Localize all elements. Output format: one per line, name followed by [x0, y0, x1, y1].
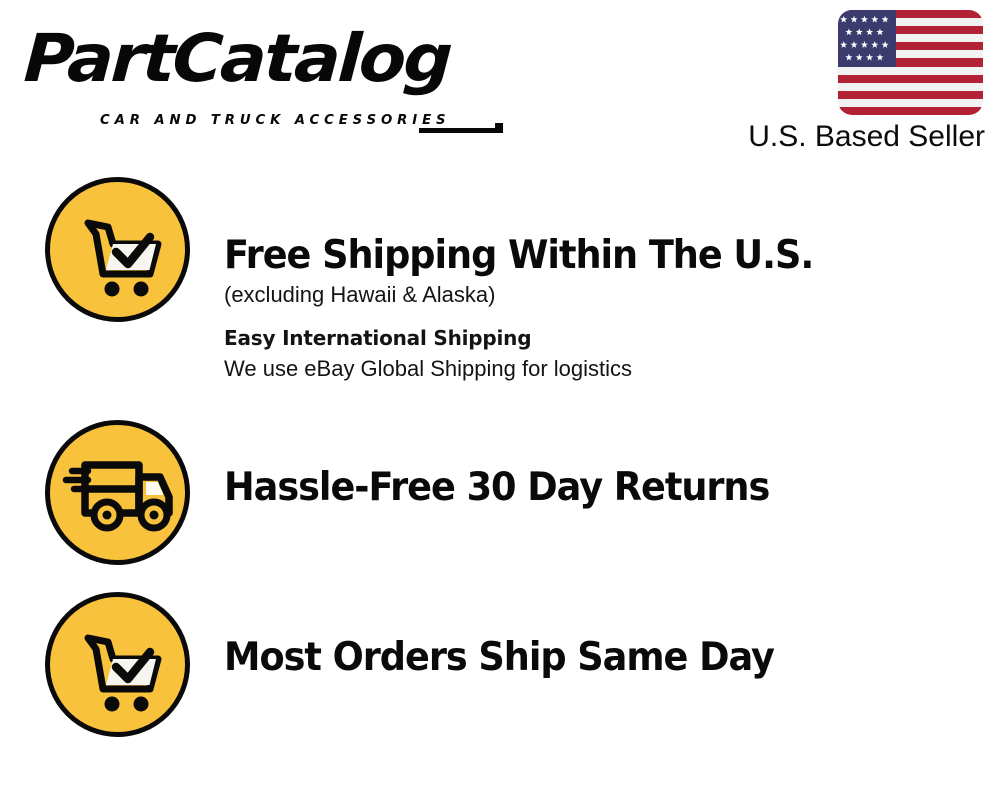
flag-star: [840, 16, 847, 23]
flag-stripe: [838, 99, 983, 107]
flag-star: [861, 41, 868, 48]
flag-star: [861, 16, 868, 23]
flag-star: [882, 16, 889, 23]
feature-row: Hassle-Free 30 Day Returns: [0, 345, 1000, 520]
flag-stripe: [838, 75, 983, 83]
us-flag-icon: [838, 10, 983, 115]
feature-list: Free Shipping Within The U.S. (excluding…: [0, 175, 1000, 800]
flag-star: [876, 54, 883, 61]
flag-star: [856, 54, 863, 61]
flag-star: [851, 41, 858, 48]
flag-star: [840, 41, 847, 48]
flag-star: [866, 28, 873, 35]
brand-tagline: CAR AND TRUCK ACCESSORIES: [100, 112, 450, 128]
flag-stripe: [838, 91, 983, 99]
feature-row: Most Orders Ship Same Day: [0, 515, 1000, 690]
us-based-seller-label: U.S. Based Seller: [640, 118, 985, 156]
feature-text-block: Most Orders Ship Same Day: [224, 635, 990, 681]
brand-wordmark: PartCatalog: [22, 26, 452, 92]
flag-star: [866, 54, 873, 61]
flag-stripe: [838, 107, 983, 115]
flag-stars: [838, 10, 896, 67]
flag-star: [851, 16, 858, 23]
brand-logo[interactable]: PartCatalog CAR AND TRUCK ACCESSORIES: [22, 26, 492, 116]
feature-title: Hassle-Free 30 Day Returns: [224, 465, 944, 511]
shopping-cart-check-icon: [45, 592, 190, 737]
feature-subtitle: (excluding Hawaii & Alaska): [224, 279, 990, 310]
feature-row: Free Shipping Within The U.S. (excluding…: [0, 175, 1000, 350]
flag-stripe: [838, 67, 983, 75]
flag-star: [882, 41, 889, 48]
flag-star: [871, 41, 878, 48]
flag-star: [876, 28, 883, 35]
page-header: PartCatalog CAR AND TRUCK ACCESSORIES U.…: [0, 0, 1000, 175]
shopping-cart-check-icon: [45, 177, 190, 322]
flag-star: [845, 28, 852, 35]
feature-text-block: Hassle-Free 30 Day Returns: [224, 465, 990, 511]
feature-title: Free Shipping Within The U.S.: [224, 233, 944, 279]
feature-title: Most Orders Ship Same Day: [224, 635, 944, 681]
flag-stripe: [838, 83, 983, 91]
logo-swash-icon: [417, 122, 505, 135]
flag-star: [845, 54, 852, 61]
flag-star: [856, 28, 863, 35]
flag-star: [871, 16, 878, 23]
